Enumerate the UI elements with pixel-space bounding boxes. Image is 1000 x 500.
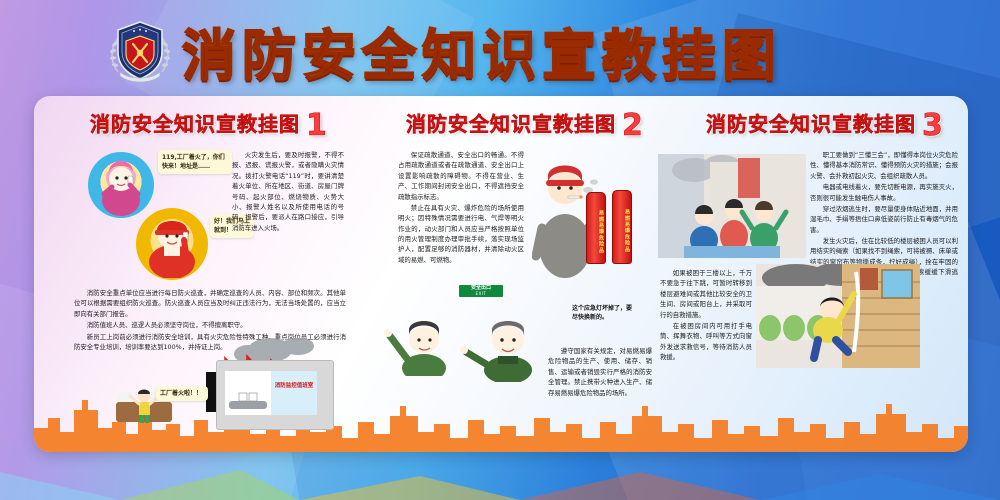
exit-sign[interactable]: 安全出口 EXIT [458,284,504,298]
poster-header: 消防安全知识宣教挂图 [0,0,1000,100]
illustration-family-with-smoke [658,154,806,258]
panel3-top-p2: 电器或电线着火，要先切断电源，再实施灭火，否则很可能发生触电伤人事故。 [810,182,958,203]
panel3-top-p3: 穿过浓烟逃生时，要尽量使身体贴近地面，并用湿毛巾、手绢等捂住口鼻低姿前行防止有毒… [810,204,958,235]
monitoring-room-sign: 消防监控值班室 [273,383,315,390]
bubble-emergency-lamp: 这个应急灯坏掉了，要尽快换新的。 [572,304,634,323]
illustration-inspector-in-uniform [458,304,562,382]
illustration-woman-calling [92,154,150,216]
section-heading-1: 消防安全知识宣教挂图1 [90,108,328,143]
panel3-top-p1: 职工要做到“三懂三会”，即懂得本岗位火灾危险性、懂得基本消防常识、懂得预防火灾的… [810,150,958,181]
section-heading-3-label: 消防安全知识宣教挂图 [706,112,916,136]
section-heading-1-number: 1 [306,108,328,143]
section-heading-3: 消防安全知识宣教挂图3 [706,108,944,143]
bottom-color-strip [0,452,1000,500]
content-board: 消防安全知识宣教挂图1 消防安全知识宣教挂图2 消防安全知识宣教挂图3 [34,96,968,452]
hazard-cylinder-1: 易燃易爆危险品 [586,192,606,264]
panel1-left-p1: 消防安全重点单位应当进行每日防火巡查，并确定巡查的人员、内容、部位和频次。其他单… [74,288,346,319]
panel3-text-bottom: 如果被困于三楼以上，千万不要急于往下跳，可暂时转移到楼层避难间或其他比较安全的卫… [660,268,752,363]
panel2-text-bottom: 遵守国家有关规定，对易燃易爆危险物品的生产、使用、储存、销售、运输或者销毁实行严… [548,346,652,399]
panel-1: 119,工厂着火了，你们快来！地址是…… 好！我们马上就到！ 火灾发生后，要及时… [40,148,350,444]
panel2-top-p2: 禁止在具有火灾、爆炸危险的场所使用明火；因特殊情况需要进行电、气焊等明火作业的，… [398,203,524,265]
console-desk-icon [227,391,269,413]
illustration-firefighter-answering [140,210,204,278]
panel1-text-right: 火灾发生后，要及时报警，不得不报、迟报、谎报火警，或者隐瞒火灾情况。拨打火警电话… [232,150,344,234]
panel1-left-p2: 消防值班人员、巡逻人员必须坚守岗位，不得擅离职守。 [74,320,346,330]
poster-root: 消防安全知识宣教挂图 消防安全知识宣教挂图1 消防安全知识宣教挂图2 消防安全知… [0,0,1000,500]
panel3-bottom-p1: 如果被困于三楼以上，千万不要急于往下跳，可暂时转移到楼层避难间或其他比较安全的卫… [660,268,752,320]
section-heading-1-label: 消防安全知识宣教挂图 [90,112,300,136]
panel3-bottom-p2: 在被困房间内可用打手电筒、挥舞衣物、呼叫等方式向窗外发送求救信号，等待消防人员救… [660,321,752,363]
panel2-bottom-p1: 遵守国家有关规定，对易燃易爆危险物品的生产、使用、储存、销售、运输或者销毁实行严… [548,346,652,398]
bubble-worker: 工厂着火啦！！ [156,386,208,401]
photo-monitoring-room: 消防监控值班室 [216,360,334,430]
panel-3: 职工要做到“三懂三会”，即懂得本岗位火灾危险性、懂得基本消防常识、懂得预防火灾的… [658,148,964,444]
panel-2: 保证疏散通道、安全出口的畅通。不得占用疏散通道或者在疏散通道、安全出口上设置影响… [354,148,654,444]
section-heading-3-number: 3 [922,108,944,143]
bubble-caller: 119,工厂着火了，你们快来！地址是…… [158,150,232,174]
exit-sign-label-en: EXIT [461,292,501,296]
hazard-cylinder-2: 易燃易爆危险品 [612,190,632,264]
panel2-text-top: 保证疏散通道、安全出口的畅通。不得占用疏散通道或者在疏散通道、安全出口上设置影响… [398,150,524,266]
fire-service-emblem [104,16,176,86]
section-heading-2: 消防安全知识宣教挂图2 [406,108,644,143]
section-heading-2-number: 2 [622,108,644,143]
panel1-right-p1: 火灾发生后，要及时报警，不得不报、迟报、谎报火警，或者隐瞒火灾情况。拨打火警电话… [232,150,344,233]
illustration-rope-escape [756,264,920,368]
page-title: 消防安全知识宣教挂图 [182,14,882,86]
panel2-top-p1: 保证疏散通道、安全出口的畅通。不得占用疏散通道或者在疏散通道、安全出口上设置影响… [398,150,524,202]
section-heading-2-label: 消防安全知识宣教挂图 [406,112,616,136]
